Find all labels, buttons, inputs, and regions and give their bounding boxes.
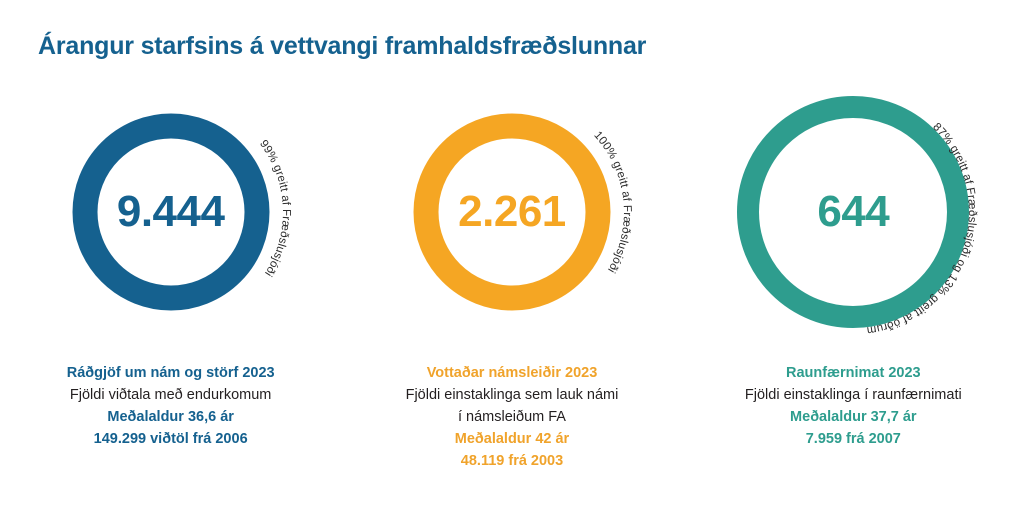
donut-chart-3: 87% greitt af Fræðslusjóði og 13% greitt… xyxy=(703,74,1003,350)
donut-ring-3 xyxy=(748,107,958,317)
caption-line: Vottaðar námsleiðir 2023 xyxy=(347,362,677,384)
caption-line: 7.959 frá 2007 xyxy=(688,428,1018,450)
donut-ring-1 xyxy=(85,126,257,298)
donut-ring-2 xyxy=(426,126,598,298)
caption-line: 48.119 frá 2003 xyxy=(347,450,677,472)
panel-radgjof: 99% greitt af Fræðslusjóði 9.444 Ráðgjöf… xyxy=(0,74,341,494)
donut-chart-2: 100% greitt af Fræðslusjóði 2.261 xyxy=(362,74,662,350)
caption-line: Fjöldi einstaklinga sem lauk námi xyxy=(347,384,677,406)
caption-line: Meðalaldur 37,7 ár xyxy=(688,406,1018,428)
caption-block-1: Ráðgjöf um nám og störf 2023 Fjöldi viðt… xyxy=(6,362,336,450)
donut-chart-1: 99% greitt af Fræðslusjóði 9.444 xyxy=(21,74,321,350)
page-title: Árangur starfsins á vettvangi framhaldsf… xyxy=(38,32,646,61)
caption-line: Raunfærnimat 2023 xyxy=(688,362,1018,384)
panel-raunfaernimat: 87% greitt af Fræðslusjóði og 13% greitt… xyxy=(683,74,1024,494)
donut-panel-row: 99% greitt af Fræðslusjóði 9.444 Ráðgjöf… xyxy=(0,74,1024,494)
caption-line: 149.299 viðtöl frá 2006 xyxy=(6,428,336,450)
caption-line: Fjöldi einstaklinga í raunfærnimati xyxy=(688,384,1018,406)
caption-line: Meðalaldur 36,6 ár xyxy=(6,406,336,428)
caption-line: í námsleiðum FA xyxy=(347,406,677,428)
panel-vottadar-namsleidir: 100% greitt af Fræðslusjóði 2.261 Vottað… xyxy=(341,74,682,494)
caption-line: Fjöldi viðtala með endurkomum xyxy=(6,384,336,406)
caption-line: Ráðgjöf um nám og störf 2023 xyxy=(6,362,336,384)
caption-line: Meðalaldur 42 ár xyxy=(347,428,677,450)
donut-ring-svg-2: 100% greitt af Fræðslusjóði xyxy=(362,74,662,350)
caption-block-3: Raunfærnimat 2023 Fjöldi einstaklinga í … xyxy=(688,362,1018,450)
donut-ring-svg-1: 99% greitt af Fræðslusjóði xyxy=(21,74,321,350)
caption-block-2: Vottaðar námsleiðir 2023 Fjöldi einstakl… xyxy=(347,362,677,472)
donut-ring-svg-3: 87% greitt af Fræðslusjóði og 13% greitt… xyxy=(703,74,1003,350)
infographic-page: Árangur starfsins á vettvangi framhaldsf… xyxy=(0,0,1024,514)
